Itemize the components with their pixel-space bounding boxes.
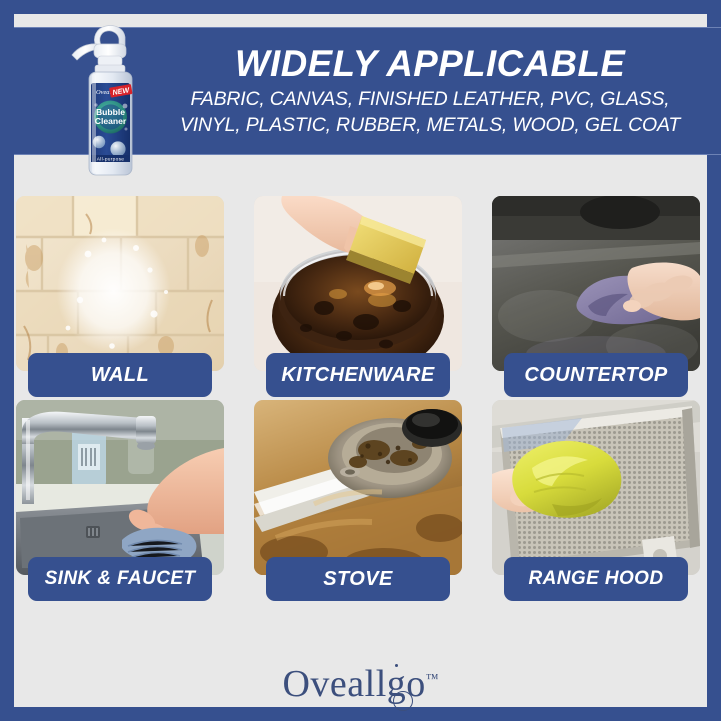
photo-sponge-scrubbing-burnt-pot — [254, 196, 462, 371]
spray-bottle-illustration: Oveallgo NEW Bubble Cleaner All-purpose — [62, 16, 158, 180]
card-label-pill-kitchenware[interactable]: KITCHENWARE — [266, 353, 450, 397]
svg-text:All-purpose: All-purpose — [97, 157, 125, 163]
card-range-hood[interactable]: RANGE HOOD — [492, 400, 700, 575]
card-countertop[interactable]: COUNTERTOP — [492, 196, 700, 371]
card-sink-faucet[interactable]: SINK & FAUCET — [16, 400, 224, 575]
card-label-pill-countertop[interactable]: COUNTERTOP — [504, 353, 688, 397]
photo-greasy-gas-stove-burner — [254, 400, 462, 575]
photo-wall-tiles-foam — [16, 196, 224, 371]
brand-logo: Oveallgo™ — [282, 665, 438, 703]
card-label-text: KITCHENWARE — [281, 364, 434, 387]
application-card-grid: WALL — [14, 196, 707, 575]
page-title: WIDELY APPLICABLE — [235, 45, 625, 83]
card-label-text: RANGE HOOD — [529, 568, 664, 590]
card-wall[interactable]: WALL — [16, 196, 224, 371]
card-label-text: WALL — [91, 364, 149, 387]
header-text-block: WIDELY APPLICABLE FABRIC, CANVAS, FINISH… — [150, 27, 710, 155]
card-kitchenware[interactable]: KITCHENWARE — [254, 196, 462, 371]
card-label-text: COUNTERTOP — [524, 364, 667, 387]
card-stove[interactable]: STOVE — [254, 400, 462, 575]
card-label-pill-range-hood[interactable]: RANGE HOOD — [504, 557, 688, 601]
card-label-text: SINK & FAUCET — [45, 568, 196, 590]
materials-line-2: VINYL, PLASTIC, RUBBER, METALS, WOOD, GE… — [180, 113, 680, 139]
card-label-pill-stove[interactable]: STOVE — [266, 557, 450, 601]
card-label-text: STOVE — [323, 568, 392, 591]
card-label-pill-wall[interactable]: WALL — [28, 353, 212, 397]
product-spray-bottle: Oveallgo NEW Bubble Cleaner All-purpose — [62, 16, 158, 180]
footer: Oveallgo™ — [14, 660, 707, 707]
logo-dot-flourish — [395, 664, 398, 667]
photo-gloved-hand-wiping-steel-sink — [16, 400, 224, 575]
card-label-pill-sink-faucet[interactable]: SINK & FAUCET — [28, 557, 212, 601]
photo-cloth-wiping-granite-counter — [492, 196, 700, 371]
materials-line-1: FABRIC, CANVAS, FINISHED LEATHER, PVC, G… — [191, 87, 670, 113]
photo-yellow-cloth-on-mesh-filter — [492, 400, 700, 575]
logo-ring-flourish — [393, 691, 413, 711]
svg-text:Cleaner: Cleaner — [95, 116, 127, 126]
infographic-page: WIDELY APPLICABLE FABRIC, CANVAS, FINISH… — [0, 0, 721, 721]
trademark-symbol: ™ — [426, 670, 439, 685]
